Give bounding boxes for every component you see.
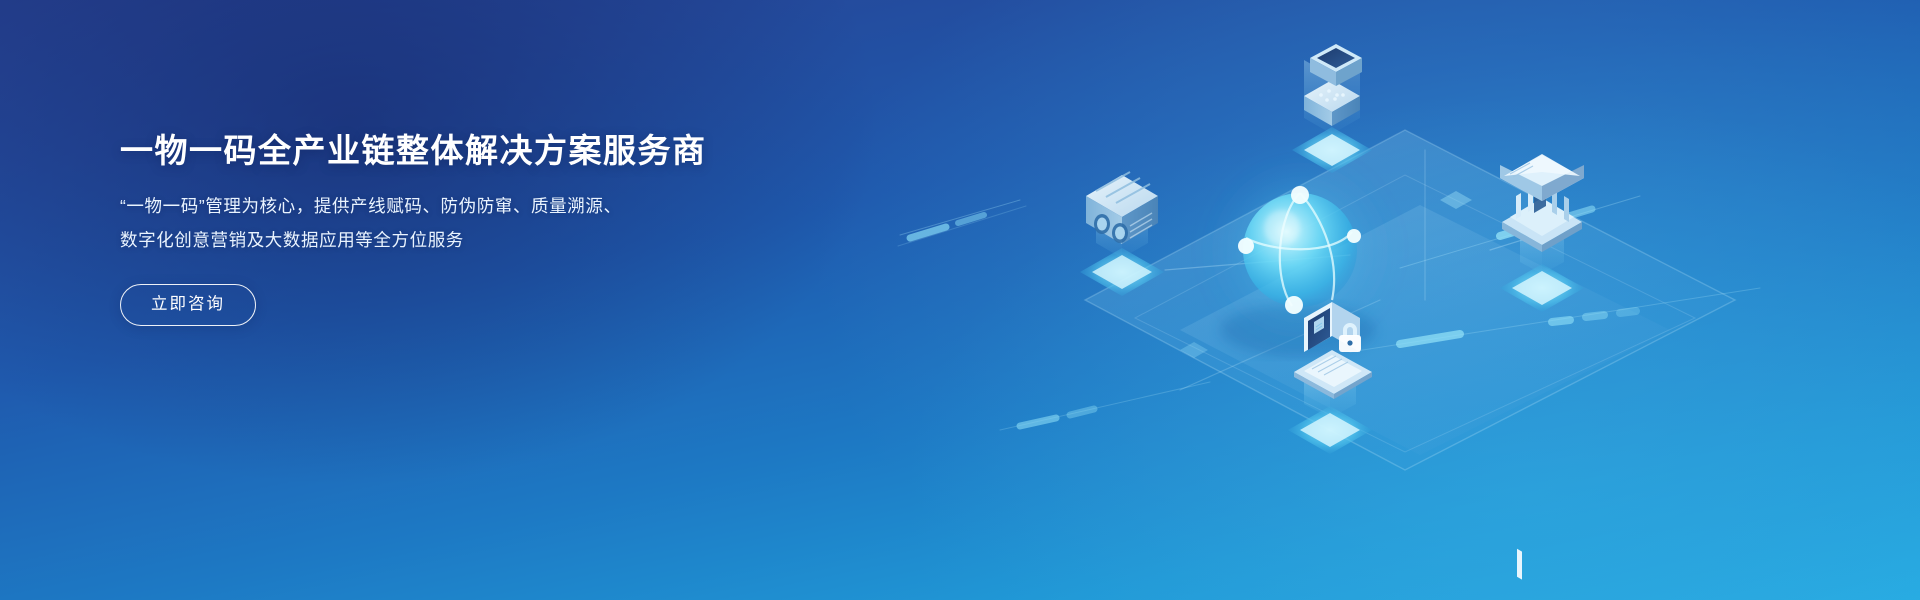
server-rack-icon bbox=[1080, 172, 1164, 296]
hero-copy-block: 一物一码全产业链整体解决方案服务商 “一物一码”管理为核心，提供产线赋码、防伪防… bbox=[120, 128, 760, 326]
page-title: 一物一码全产业链整体解决方案服务商 bbox=[120, 128, 760, 174]
isometric-platform bbox=[1085, 130, 1735, 470]
glowing-network-sphere bbox=[1208, 158, 1392, 356]
subtitle-line-2: 数字化创意营销及大数据应用等全方位服务 bbox=[120, 224, 760, 256]
subtitle-line-1: “一物一码”管理为核心，提供产线赋码、防伪防窜、质量溯源、 bbox=[120, 190, 760, 222]
pos-terminal-icon bbox=[1292, 44, 1372, 173]
isometric-iot-network-illustration bbox=[880, 0, 1780, 600]
consult-now-button[interactable]: 立即咨询 bbox=[120, 284, 256, 326]
hero-banner: 一物一码全产业链整体解决方案服务商 “一物一码”管理为核心，提供产线赋码、防伪防… bbox=[0, 0, 1920, 600]
